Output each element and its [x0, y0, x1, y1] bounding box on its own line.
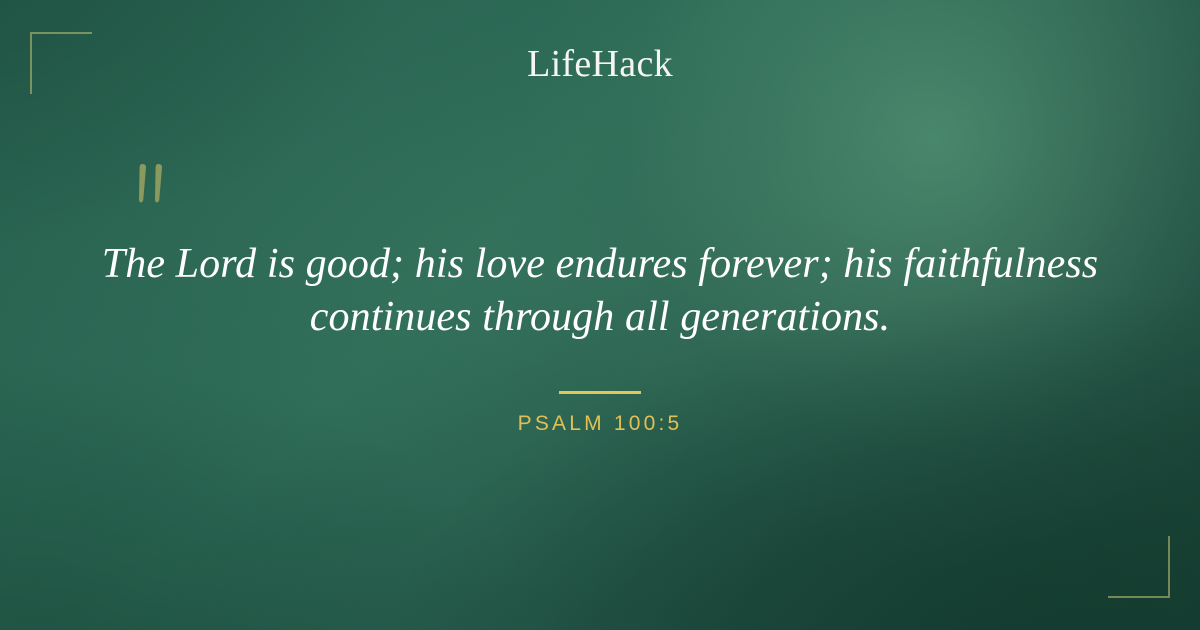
double-quote-icon [132, 160, 178, 216]
lifehack-logo: LifeHack [0, 42, 1200, 86]
horizontal-rule-icon [559, 391, 641, 394]
quote-text: The Lord is good; his love endures forev… [100, 238, 1100, 344]
corner-bracket-bottom-right-icon [1108, 536, 1170, 598]
scripture-citation: PSALM 100:5 [0, 412, 1200, 436]
quote-card: LifeHack The Lord is good; his love endu… [0, 0, 1200, 630]
divider-container [0, 381, 1200, 399]
quote-line-1: The Lord is good; his love endures forev… [100, 238, 1100, 291]
quote-line-2: continues through all generations. [100, 291, 1100, 344]
